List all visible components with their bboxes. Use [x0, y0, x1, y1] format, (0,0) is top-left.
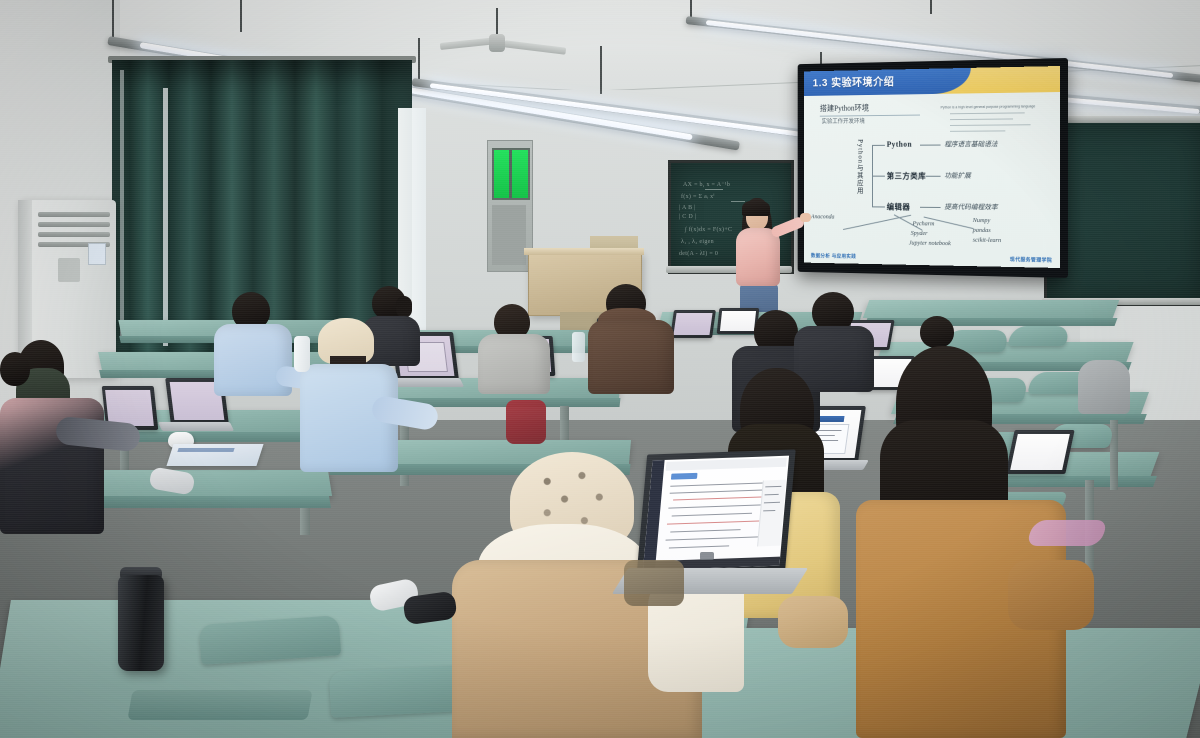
curtain-light-gap	[163, 88, 168, 346]
student-body	[794, 326, 874, 392]
mindmap-branch-desc: 程序语言基础语法	[944, 139, 997, 149]
door-panel	[492, 205, 526, 265]
textbook-title-band	[177, 448, 234, 452]
laptop-logo	[700, 552, 714, 560]
chalk-line: AX = b, x = A⁻¹b	[683, 181, 730, 188]
mindmap-editor: Pycharm	[913, 220, 935, 227]
ceiling-fan	[489, 34, 505, 52]
mindmap-root: Python与其应用	[856, 139, 865, 194]
slide-footer-right: 现代服务管理学院	[1010, 256, 1052, 264]
chalk-line: λ₁ , λ₂ eigen	[681, 239, 714, 245]
mousepad[interactable]	[1025, 520, 1108, 546]
student-head	[0, 352, 30, 386]
mindmap-distribution: Anaconda	[811, 213, 835, 220]
classroom-photo: AX = b, x = A⁻¹b f(x) = Σ aᵢ xⁱ | A B | …	[0, 0, 1200, 738]
door-green-glass	[492, 148, 530, 200]
water-bottle[interactable]	[294, 336, 310, 372]
mindmap-library: Numpy	[973, 217, 991, 224]
bag[interactable]	[624, 560, 684, 606]
mindmap-editor: Spyder	[911, 230, 928, 237]
chair[interactable]	[1008, 326, 1071, 346]
laptop-screen	[1010, 434, 1070, 470]
mindmap-branch-desc: 功能扩展	[944, 171, 970, 181]
editor-highlight	[671, 473, 698, 480]
backpack[interactable]	[506, 400, 546, 444]
chalk-line: | C D |	[679, 214, 696, 220]
projector-screen: 1.3 实验环境介绍 搭建Python环境 实验工作开发环境 Python is…	[804, 66, 1060, 268]
laptop-screen	[720, 311, 756, 331]
student-body	[588, 320, 674, 394]
air-conditioner-label	[88, 243, 106, 265]
student-arm	[1008, 560, 1094, 630]
mindmap-branch-label: Python	[887, 140, 912, 149]
chalk-line: det(A - λI) = 0	[679, 251, 718, 257]
teacher-torso	[736, 228, 780, 286]
student-ponytail	[396, 296, 412, 318]
slide-subheading: 实验工作开发环境	[822, 116, 865, 125]
teacher-hair-top	[742, 200, 770, 216]
slide-title: 1.3 实验环境介绍	[813, 73, 895, 90]
chalk-line: | A B |	[679, 205, 696, 211]
laptop-screen	[673, 313, 712, 335]
slide-heading: 搭建Python环境	[820, 102, 920, 117]
foreground-laptop-screen	[643, 456, 789, 571]
slide-fine-print: Python is a high level general purpose p…	[941, 104, 1036, 109]
teacher-hand	[800, 213, 811, 222]
water-bottle[interactable]	[572, 332, 585, 362]
thermos[interactable]	[118, 575, 164, 671]
mindmap-editor: Jupyter notebook	[909, 240, 951, 247]
desk	[863, 300, 1120, 318]
student-hand-area	[778, 596, 848, 648]
student-body	[478, 334, 550, 394]
chair-seat[interactable]	[127, 690, 312, 720]
student-body	[1078, 360, 1130, 414]
mindmap-branch-label: 第三方类库	[887, 171, 926, 182]
editor-toolbar[interactable]	[666, 458, 787, 471]
chalk-line: f(x) = Σ aᵢ xⁱ	[681, 193, 715, 200]
slide-footer-left: 数据分析 与应用实践	[811, 252, 856, 260]
mindmap-branch-desc: 提高代码编程效率	[944, 202, 997, 212]
mindmap-branch-label: 编辑器	[887, 202, 911, 213]
editor-right-pane[interactable]	[757, 480, 786, 547]
mindmap-library: pandas	[973, 227, 991, 234]
chalk-line: ∫ f(x)dx = F(x)+C	[685, 227, 732, 233]
lectern-top	[524, 248, 644, 255]
mindmap-library: scikit-learn	[973, 237, 1001, 244]
student-head	[920, 316, 954, 348]
student-body	[214, 324, 292, 396]
air-conditioner-panel	[58, 258, 80, 282]
laptop-keyboard[interactable]	[158, 422, 234, 431]
